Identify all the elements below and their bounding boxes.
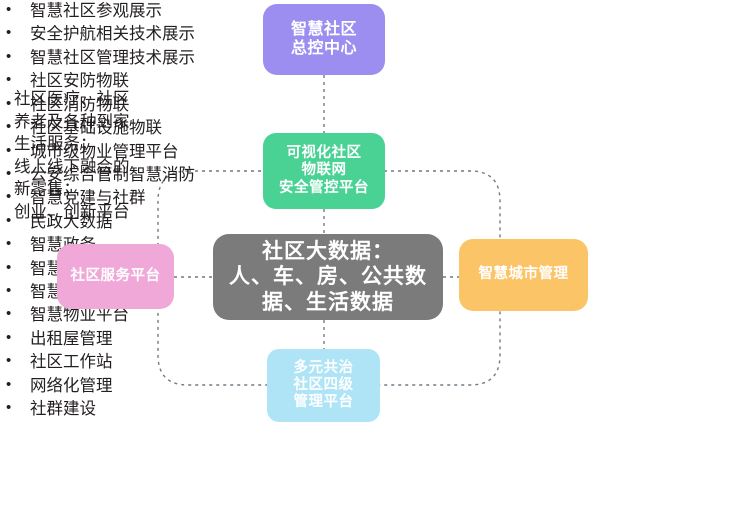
node-governance-line-3: 管理平台: [294, 394, 354, 411]
node-iot-line-2: 物联网: [302, 162, 347, 179]
node-governance-line-2: 社区四级: [294, 377, 354, 394]
service-text-line: 社区医疗、社区: [14, 88, 194, 111]
annotation-community-services-text: 社区医疗、社区 养老及各种到家 生活服务； 线上线下融合的 新零售； 创业、创新…: [14, 88, 194, 224]
diagram-canvas: 智慧社区 总控中心 可视化社区 物联网 安全管控平台 社区大数据： 人、车、房、…: [0, 0, 740, 512]
node-city-line-1: 智慧城市管理: [479, 266, 569, 283]
node-service-line-1: 社区服务平台: [71, 268, 161, 285]
node-community-service-platform[interactable]: 社区服务平台: [57, 244, 174, 309]
node-smart-community-control-center[interactable]: 智慧社区 总控中心: [263, 4, 385, 75]
service-text-line: 生活服务；: [14, 133, 194, 156]
node-iot-line-3: 安全管控平台: [279, 180, 369, 197]
node-center-line-2: 人、车、房、公共数: [229, 264, 427, 290]
node-community-big-data[interactable]: 社区大数据： 人、车、房、公共数 据、生活数据: [213, 234, 443, 320]
service-text-line: 创业、创新平台: [14, 201, 194, 224]
node-control-line-2: 总控中心: [291, 40, 357, 59]
node-multi-party-governance-platform[interactable]: 多元共治 社区四级 管理平台: [267, 349, 380, 422]
node-iot-line-1: 可视化社区: [287, 145, 362, 162]
service-text-line: 新零售；: [14, 178, 194, 201]
node-governance-line-1: 多元共治: [294, 360, 354, 377]
service-text-line: 线上线下融合的: [14, 156, 194, 179]
node-visual-community-iot-security-platform[interactable]: 可视化社区 物联网 安全管控平台: [263, 133, 385, 209]
node-center-line-3: 据、生活数据: [262, 290, 394, 316]
node-center-line-1: 社区大数据：: [262, 239, 394, 265]
node-control-line-1: 智慧社区: [291, 21, 357, 40]
list-item: 出租屋管理: [0, 328, 740, 351]
node-smart-city-management[interactable]: 智慧城市管理: [459, 239, 588, 311]
service-text-line: 养老及各种到家: [14, 111, 194, 134]
